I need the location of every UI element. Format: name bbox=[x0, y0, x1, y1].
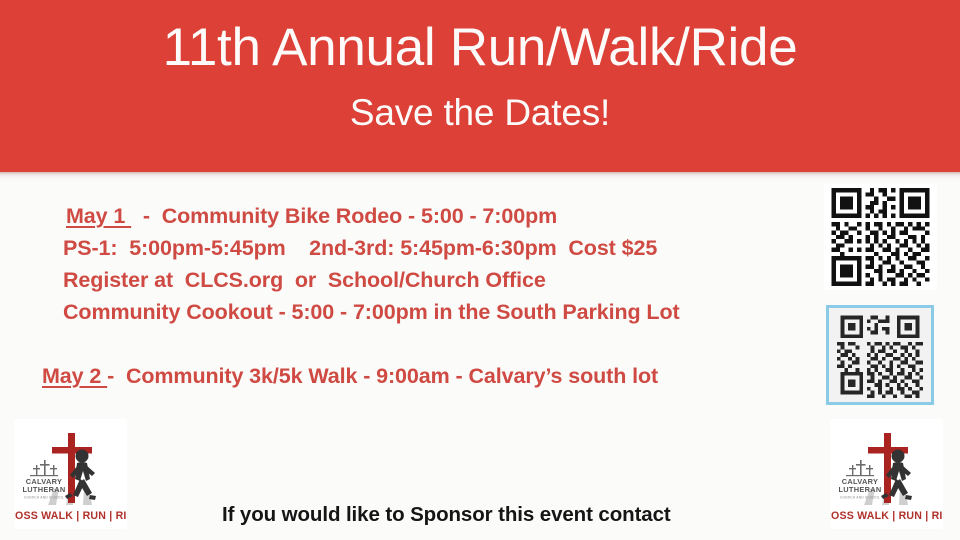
event-1-date-suffix: - Community Bike Rodeo - 5:00 - 7:00pm bbox=[131, 204, 557, 228]
page-subtitle: Save the Dates! bbox=[350, 94, 610, 131]
page-title: 11th Annual Run/Walk/Ride bbox=[163, 21, 798, 74]
event-2-date-label: May 2 bbox=[42, 364, 107, 388]
sponsor-contact-block: If you would like to Sponsor this event … bbox=[222, 442, 671, 540]
event-2-date-line: May 2 - Community 3k/5k Walk - 9:00am - … bbox=[0, 360, 820, 392]
header-banner: 11th Annual Run/Walk/Ride Save the Dates… bbox=[0, 0, 960, 172]
sponsor-prompt-line: If you would like to Sponsor this event … bbox=[222, 500, 671, 529]
svg-text:LUTHERAN: LUTHERAN bbox=[838, 485, 881, 494]
logo-calvary-crosswalk-right: CALVARY LUTHERAN CHURCH AND SCHOOL CROSS… bbox=[830, 419, 943, 529]
qr-code-registration-image bbox=[824, 184, 937, 290]
event-1-date-line: May 1 - Community Bike Rodeo - 5:00 - 7:… bbox=[0, 200, 820, 232]
section-spacer bbox=[0, 328, 820, 360]
logo-calvary-crosswalk-left: CALVARY LUTHERAN CHURCH AND SCHOOL CROSS… bbox=[14, 419, 127, 529]
event-1-date-label: May 1 bbox=[66, 204, 131, 228]
svg-text:CHURCH AND SCHOOL: CHURCH AND SCHOOL bbox=[840, 496, 880, 500]
qr-code-secondary-image bbox=[829, 308, 931, 402]
event-details-block: May 1 - Community Bike Rodeo - 5:00 - 7:… bbox=[0, 200, 820, 392]
svg-text:CROSS WALK | RUN | RIDE: CROSS WALK | RUN | RIDE bbox=[830, 510, 943, 522]
event-flyer: 11th Annual Run/Walk/Ride Save the Dates… bbox=[0, 0, 960, 540]
svg-text:CROSS WALK | RUN | RIDE: CROSS WALK | RUN | RIDE bbox=[14, 510, 127, 522]
event-2-date-suffix: - Community 3k/5k Walk - 9:00am - Calvar… bbox=[107, 364, 658, 388]
event-1-detail-2: Register at CLCS.org or School/Church Of… bbox=[0, 264, 820, 296]
event-1-detail-1: PS-1: 5:00pm-5:45pm 2nd-3rd: 5:45pm-6:30… bbox=[0, 232, 820, 264]
qr-code-registration[interactable] bbox=[824, 184, 937, 290]
event-1-detail-3: Community Cookout - 5:00 - 7:00pm in the… bbox=[0, 296, 820, 328]
banner-shadow-divider bbox=[0, 172, 960, 182]
svg-text:CHURCH AND SCHOOL: CHURCH AND SCHOOL bbox=[24, 496, 64, 500]
qr-code-secondary[interactable] bbox=[826, 305, 934, 405]
svg-text:LUTHERAN: LUTHERAN bbox=[22, 485, 65, 494]
